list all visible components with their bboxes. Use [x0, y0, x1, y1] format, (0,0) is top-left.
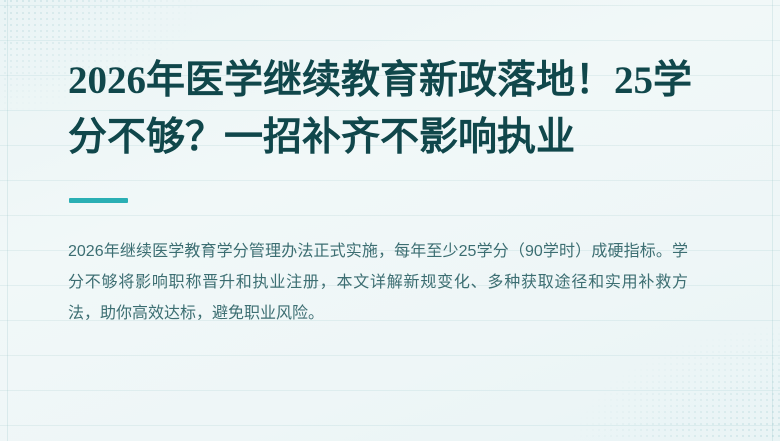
right-vertical-rule	[772, 0, 773, 441]
page-title: 2026年医学继续教育新政落地！25学分不够？一招补齐不影响执业	[68, 52, 718, 166]
article-summary: 2026年继续医学教育学分管理办法正式实施，每年至少25学分（90学时）成硬指标…	[68, 236, 688, 329]
card-content: 2026年医学继续教育新政落地！25学分不够？一招补齐不影响执业 2026年继续…	[68, 0, 720, 441]
accent-divider	[69, 198, 128, 203]
left-vertical-rule	[7, 0, 8, 441]
article-card: 2026年医学继续教育新政落地！25学分不够？一招补齐不影响执业 2026年继续…	[0, 0, 780, 441]
